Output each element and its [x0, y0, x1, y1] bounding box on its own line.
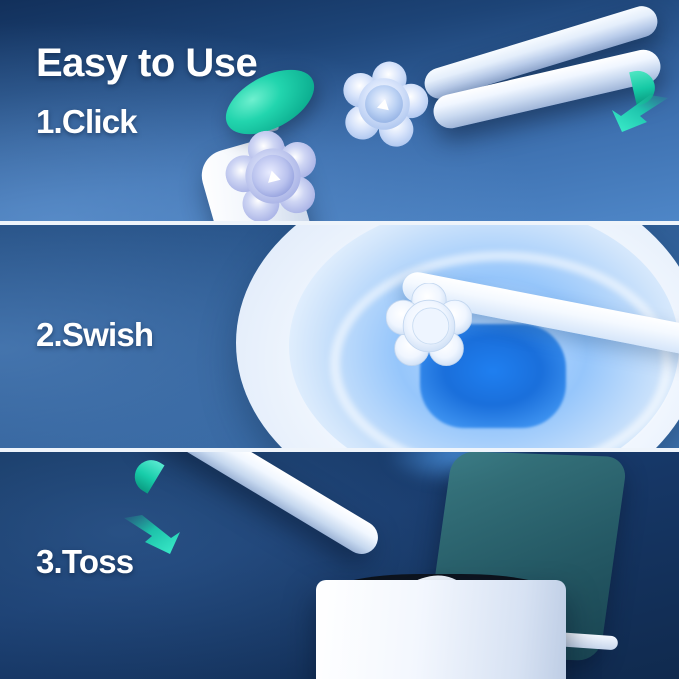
page-title: Easy to Use: [36, 43, 257, 83]
cleaning-pad-floating-icon: [333, 53, 435, 155]
step-label-swish: 2.Swish: [36, 318, 153, 351]
panel-divider: [0, 448, 679, 452]
panel-divider: [0, 221, 679, 225]
arrow-teal-icon: [600, 92, 672, 146]
step-label-click: 1.Click: [36, 105, 137, 138]
easy-to-use-infographic: Easy to Use 1.Click 2.Swish 3.Toss: [0, 0, 679, 679]
swish-pad-icon: [386, 283, 472, 369]
trash-bin-body-icon: [316, 580, 566, 679]
step-label-toss: 3.Toss: [36, 545, 133, 578]
